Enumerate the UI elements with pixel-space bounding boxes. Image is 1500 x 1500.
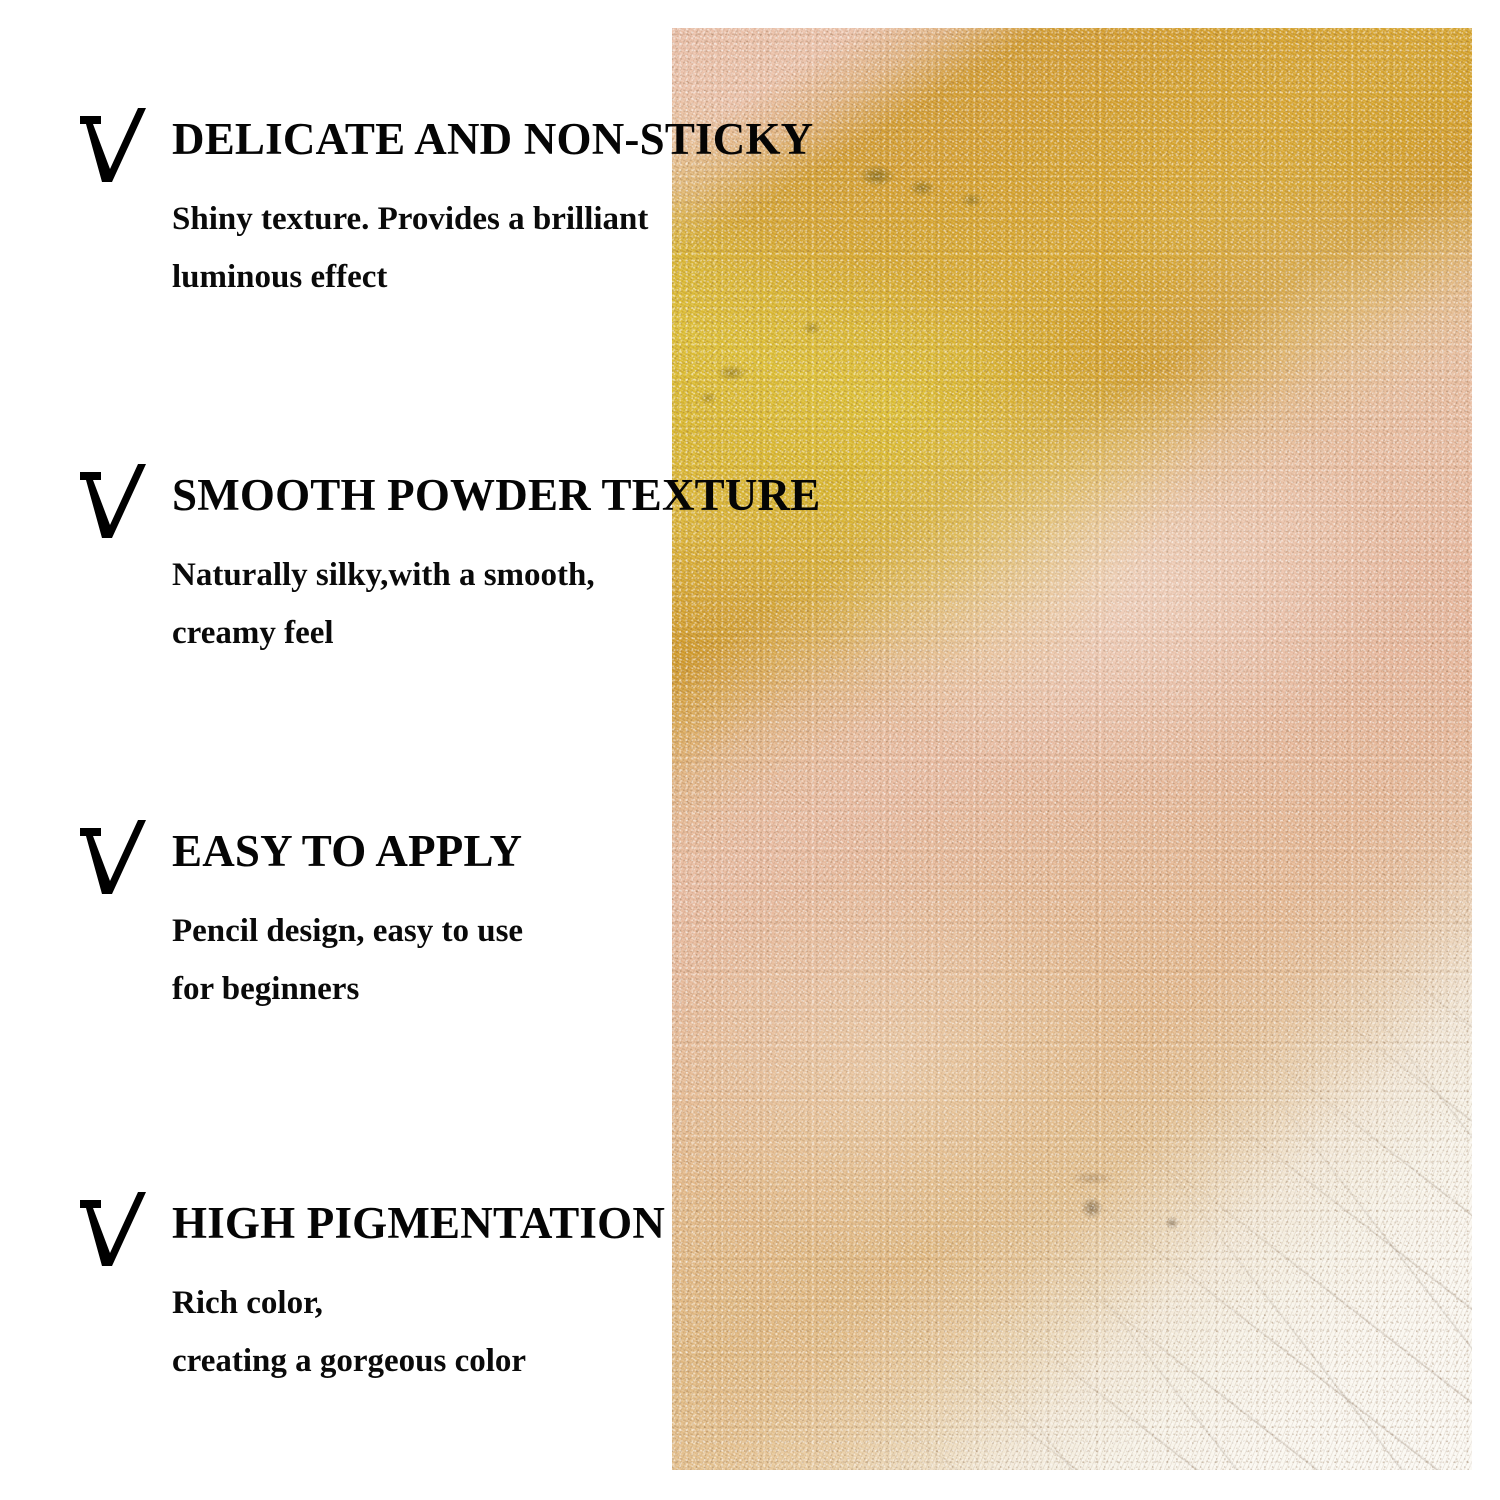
check-mark-icon (76, 462, 150, 540)
feature-heading: EASY TO APPLY (172, 824, 522, 878)
feature-heading: DELICATE AND NON-STICKY (172, 112, 813, 166)
feature-heading: HIGH PIGMENTATION (172, 1196, 665, 1250)
feature-description: Naturally silky,with a smooth, creamy fe… (172, 546, 595, 662)
check-mark-icon (76, 106, 150, 184)
feature-description: Shiny texture. Provides a brilliant lumi… (172, 190, 648, 306)
check-mark-icon (76, 818, 150, 896)
feature-heading: SMOOTH POWDER TEXTURE (172, 468, 820, 522)
check-mark-icon (76, 1190, 150, 1268)
feature-list: DELICATE AND NON-STICKY Shiny texture. P… (0, 0, 1500, 1500)
feature-description: Pencil design, easy to use for beginners (172, 902, 523, 1018)
product-feature-graphic: DELICATE AND NON-STICKY Shiny texture. P… (0, 0, 1500, 1500)
feature-description: Rich color, creating a gorgeous color (172, 1274, 526, 1390)
